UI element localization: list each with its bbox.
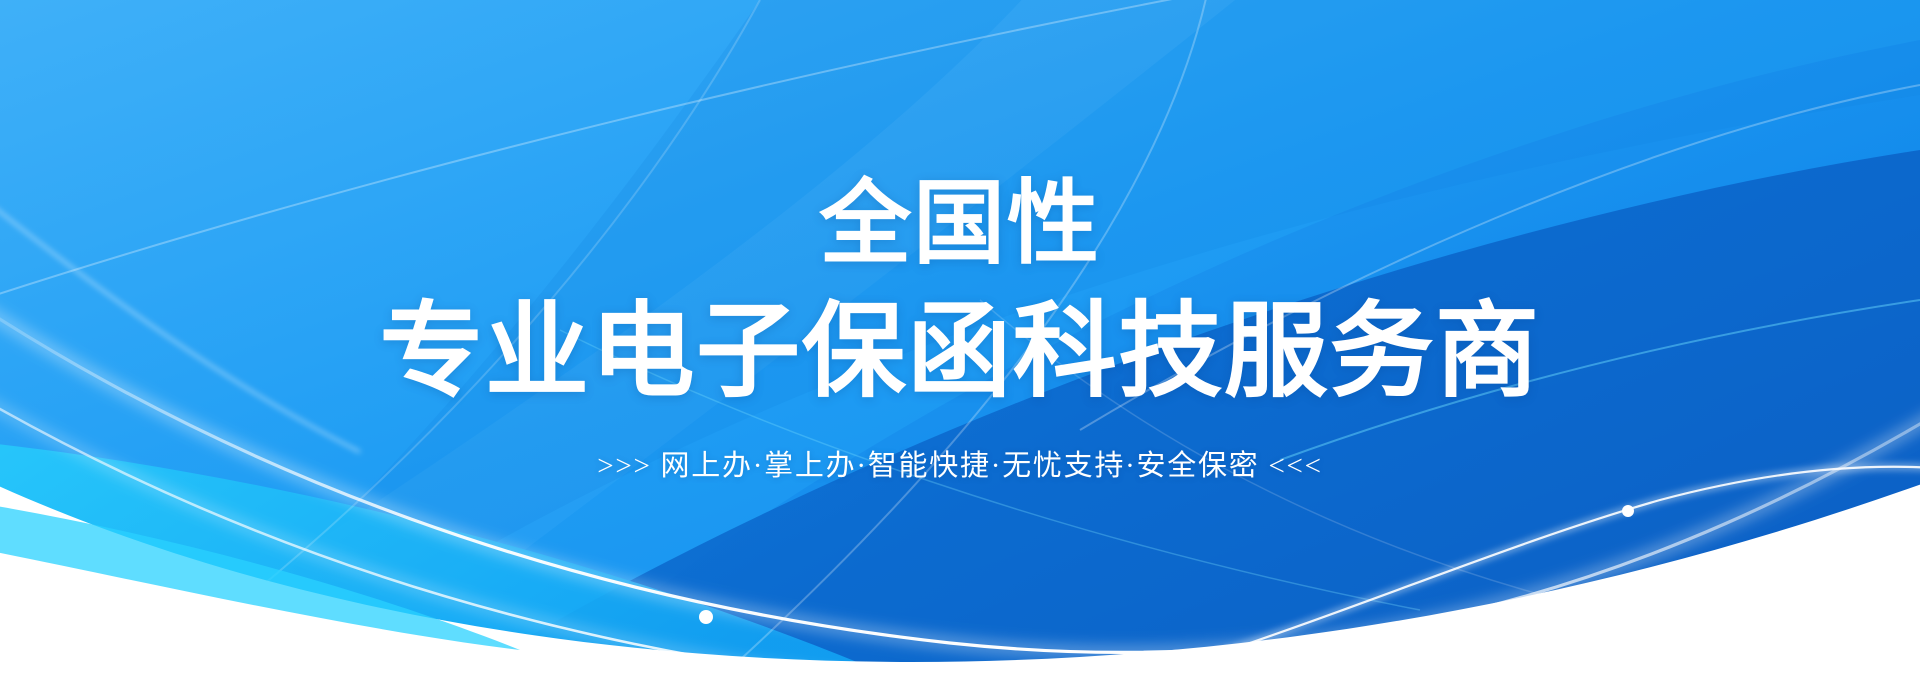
background-artwork [0, 0, 1920, 696]
decor-dot-4 [1556, 642, 1570, 656]
decor-dot-3 [1622, 505, 1634, 517]
promo-banner: 全国性 专业电子保函科技服务商 >>> 网上办·掌上办·智能快捷·无忧支持·安全… [0, 0, 1920, 696]
decor-dot-1 [699, 610, 713, 624]
